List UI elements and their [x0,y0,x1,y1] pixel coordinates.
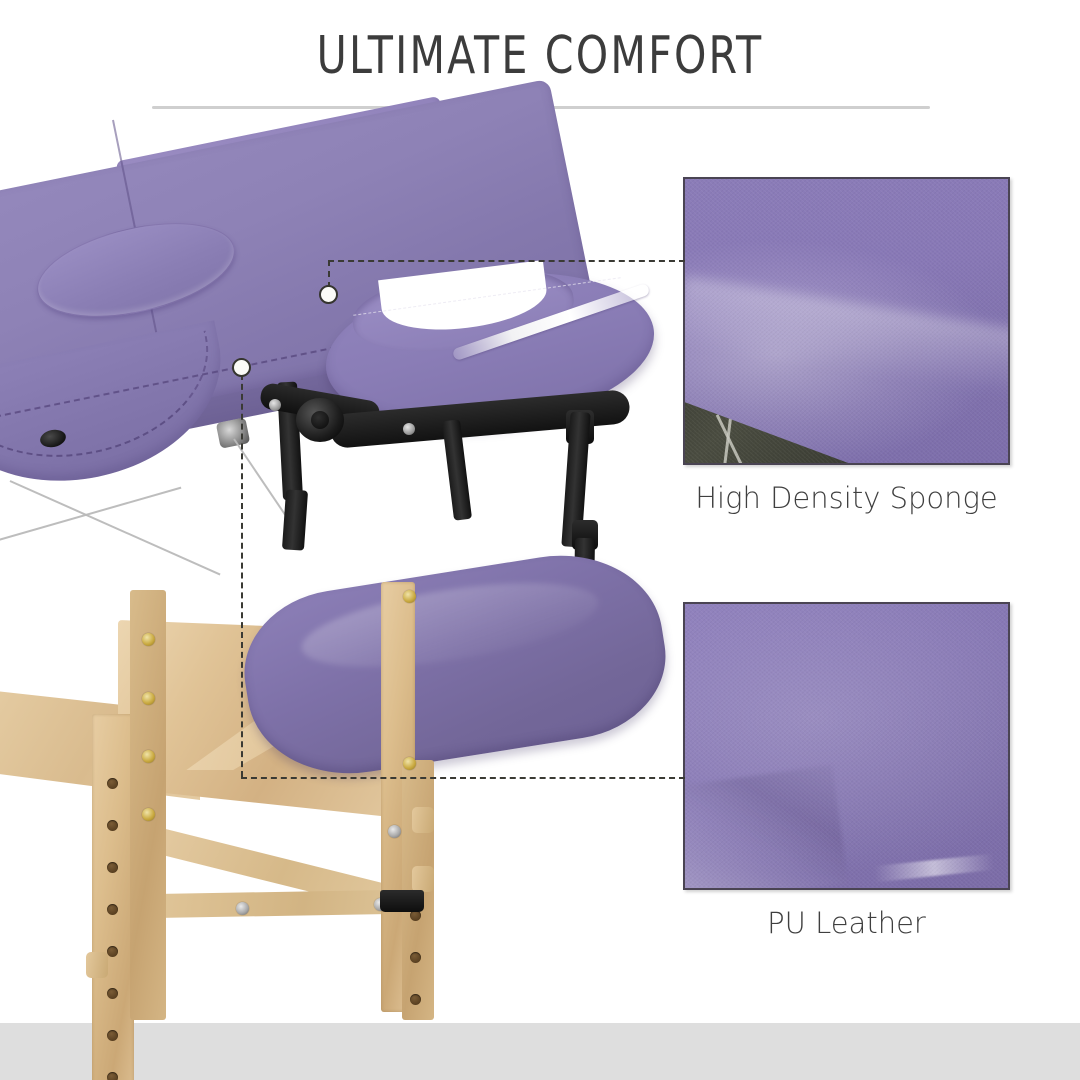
arm-rest-shelf [233,540,677,788]
infographic-canvas: ULTIMATE COMFORT [0,0,1080,1080]
frame-screw [403,590,416,603]
leg-inner-left [130,590,166,1020]
height-hole [410,994,421,1005]
height-hole [107,820,118,831]
leg-lock-knob [412,866,434,892]
bracket-screw-2 [269,399,281,411]
caption-sponge: High Density Sponge [683,481,1010,515]
height-hole [107,904,118,915]
page-title: ULTIMATE COMFORT [65,26,1015,86]
detail-panel-leather [683,602,1010,890]
height-hole [107,1030,118,1041]
height-hole [107,946,118,957]
callout-line-sponge-vertical [328,260,330,288]
leg-lock-knob [86,952,108,978]
leather-fold-shadow [683,765,849,890]
height-hole [107,1072,118,1080]
bracket-screw-1 [403,423,415,435]
callout-dot-leather [232,358,251,377]
frame-screw [403,757,416,770]
frame-screw [142,750,155,763]
cradle-strap-b [282,489,308,550]
leg-front-left [92,714,134,1080]
product-photo [0,120,700,1040]
callout-line-leather-vertical [241,374,243,777]
support-cable-2 [0,487,181,552]
height-hole [107,778,118,789]
cradle-adjust-knob [296,398,344,442]
caption-leather: PU Leather [683,906,1010,940]
height-hole [107,988,118,999]
frame-screw [142,633,155,646]
frame-screw [142,808,155,821]
height-hole [410,952,421,963]
height-hole [107,862,118,873]
callout-line-leather-horizontal [241,777,685,779]
callout-line-sponge-horizontal [328,260,685,262]
callout-dot-sponge [319,285,338,304]
leg-foot-right [380,890,424,912]
brace-screw [388,825,401,838]
hinge-knob [216,417,251,448]
frame-screw [142,692,155,705]
detail-panel-sponge [683,177,1010,465]
brace-screw [236,902,249,915]
leg-lock-knob [412,807,434,833]
